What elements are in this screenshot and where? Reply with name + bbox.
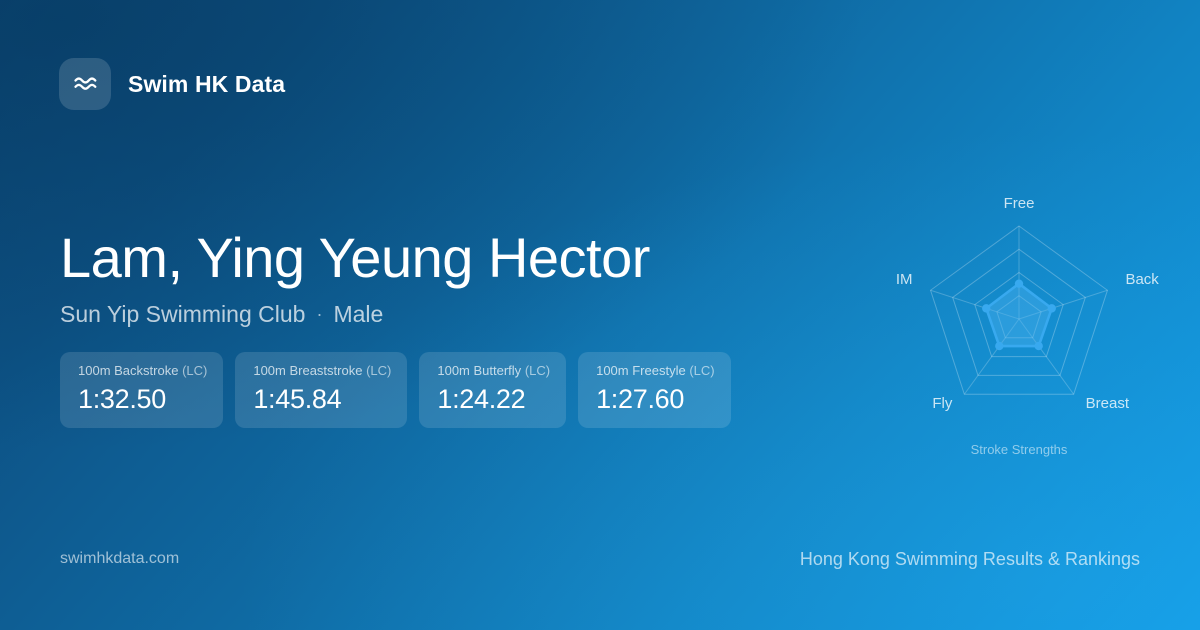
athlete-gender: Male — [333, 300, 383, 328]
stat-card-course: (LC) — [366, 363, 391, 378]
stat-card-course: (LC) — [525, 363, 550, 378]
radar-label-im: IM — [896, 271, 913, 289]
stat-card-list: 100m Backstroke (LC) 1:32.50 100m Breast… — [60, 352, 731, 428]
meta-separator: · — [316, 305, 322, 323]
brand-logo — [59, 58, 111, 110]
stat-card-time: 1:45.84 — [253, 383, 391, 415]
stat-card-label: 100m Butterfly (LC) — [437, 363, 550, 379]
stat-card-label: 100m Breaststroke (LC) — [253, 363, 391, 379]
wave-icon — [71, 70, 99, 98]
stat-card-event: 100m Breaststroke — [253, 363, 362, 378]
athlete-meta: Sun Yip Swimming Club · Male — [60, 300, 850, 328]
radar-label-breast: Breast — [1086, 395, 1129, 413]
athlete-club: Sun Yip Swimming Club — [60, 300, 305, 328]
stat-card-time: 1:32.50 — [78, 383, 207, 415]
og-card: Swim HK Data Lam, Ying Yeung Hector Sun … — [0, 0, 1200, 630]
stat-card-time: 1:24.22 — [437, 383, 550, 415]
radar-label-free: Free — [869, 195, 1169, 213]
stat-card-course: (LC) — [689, 363, 714, 378]
radar-series-polygon — [986, 284, 1051, 346]
radar-label-fly: Fly — [932, 395, 952, 413]
stat-card-event: 100m Backstroke — [78, 363, 178, 378]
stat-card: 100m Butterfly (LC) 1:24.22 — [419, 352, 566, 428]
footer-site: swimhkdata.com — [60, 548, 179, 570]
brand-name: Swim HK Data — [128, 71, 285, 98]
page-title: Lam, Ying Yeung Hector — [60, 225, 850, 291]
stat-card: 100m Breaststroke (LC) 1:45.84 — [235, 352, 407, 428]
stat-card: 100m Backstroke (LC) 1:32.50 — [60, 352, 223, 428]
radar-svg — [869, 170, 1169, 470]
radar-label-back: Back — [1125, 271, 1158, 289]
stat-card-label: 100m Freestyle (LC) — [596, 363, 715, 379]
stat-card: 100m Freestyle (LC) 1:27.60 — [578, 352, 731, 428]
stat-card-time: 1:27.60 — [596, 383, 715, 415]
stroke-strengths-radar-chart: Free Back Breast Fly IM Stroke Strengths — [869, 170, 1169, 470]
athlete-header: Lam, Ying Yeung Hector Sun Yip Swimming … — [60, 225, 850, 328]
stat-card-event: 100m Butterfly — [437, 363, 521, 378]
stat-card-course: (LC) — [182, 363, 207, 378]
stat-card-event: 100m Freestyle — [596, 363, 686, 378]
radar-caption: Stroke Strengths — [869, 442, 1169, 458]
footer-tagline: Hong Kong Swimming Results & Rankings — [800, 547, 1140, 571]
stat-card-label: 100m Backstroke (LC) — [78, 363, 207, 379]
brand: Swim HK Data — [59, 58, 285, 110]
